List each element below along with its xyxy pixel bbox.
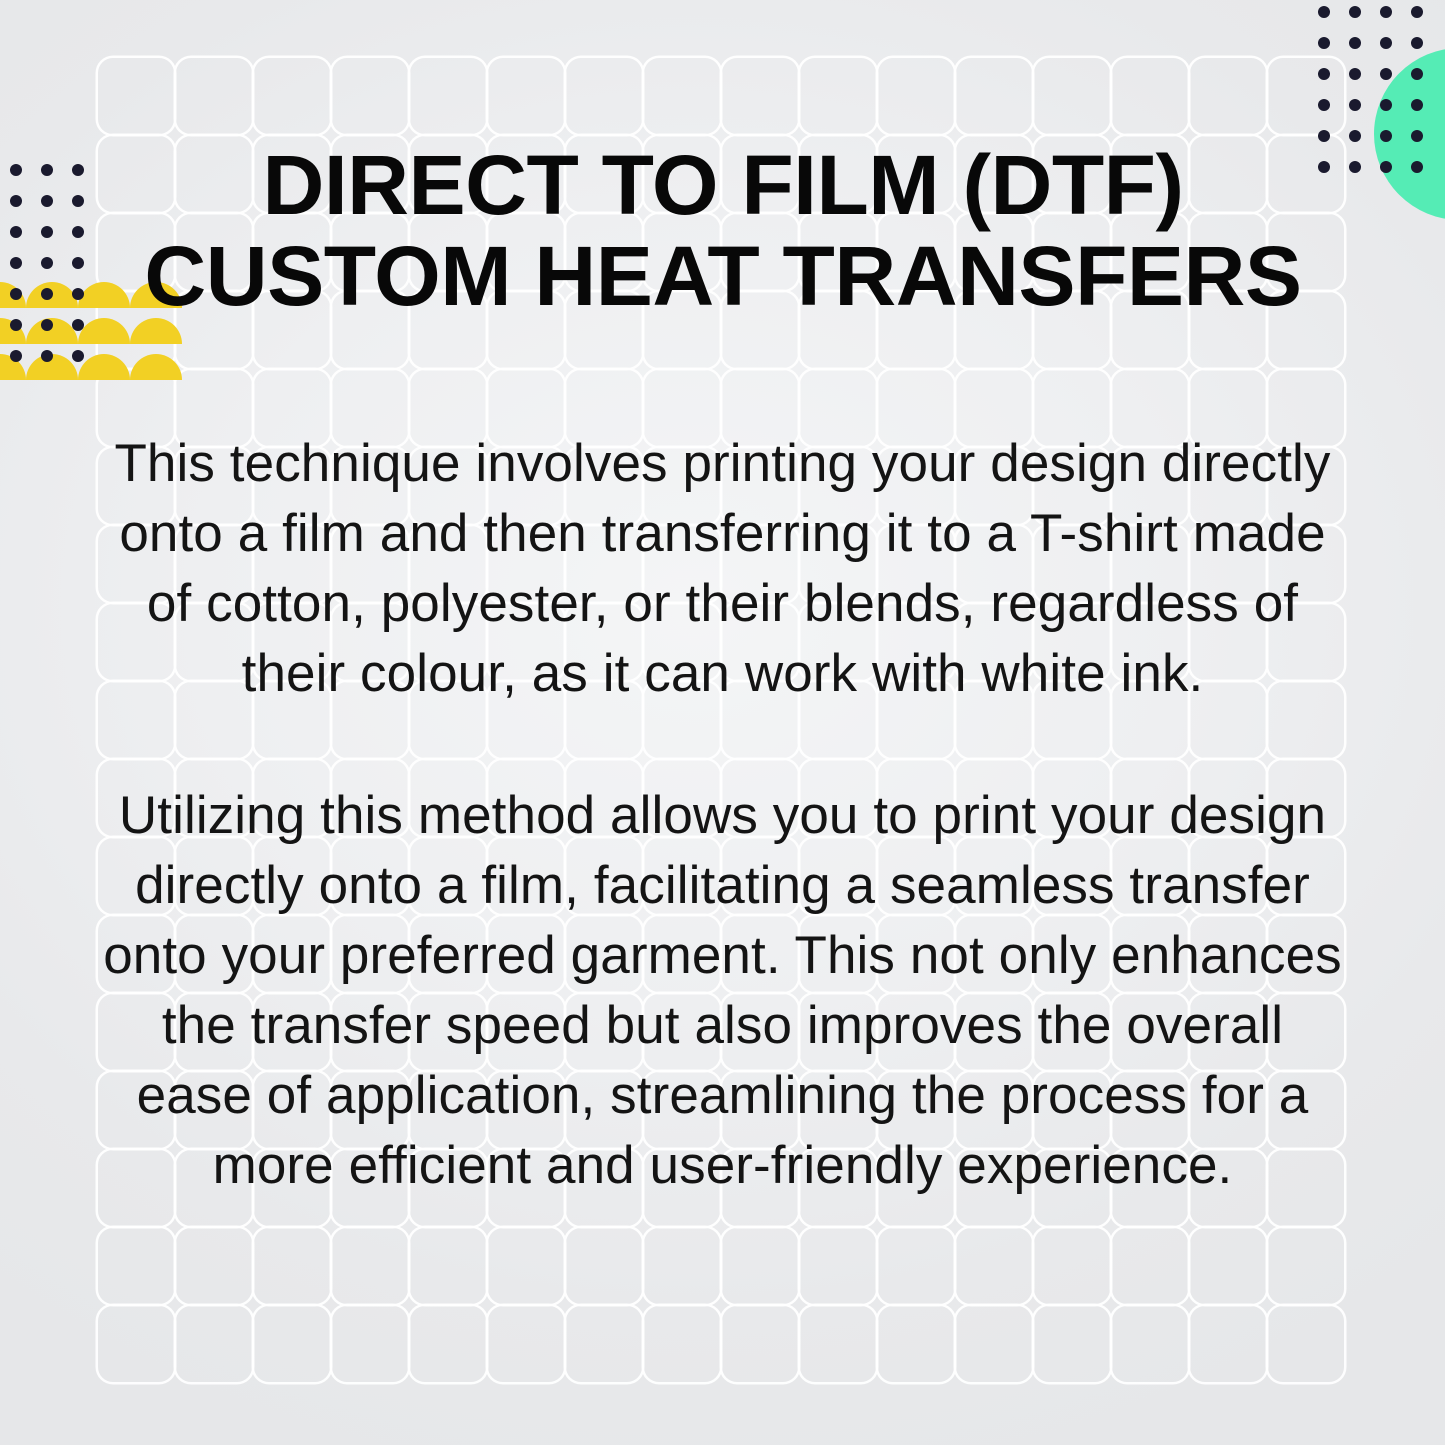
paragraph-2: Utilizing this method allows you to prin…: [98, 781, 1348, 1201]
page-title: DIRECT TO FILM (DTF) CUSTOM HEAT TRANSFE…: [133, 140, 1313, 321]
poster-content: DIRECT TO FILM (DTF) CUSTOM HEAT TRANSFE…: [0, 0, 1445, 1445]
title-line-2: CUSTOM HEAT TRANSFERS: [121, 231, 1325, 322]
title-line-1: DIRECT TO FILM (DTF): [121, 140, 1325, 231]
body-copy: This technique involves printing your de…: [98, 429, 1348, 1201]
paragraph-1: This technique involves printing your de…: [98, 429, 1348, 709]
poster-canvas: DIRECT TO FILM (DTF) CUSTOM HEAT TRANSFE…: [0, 0, 1445, 1445]
